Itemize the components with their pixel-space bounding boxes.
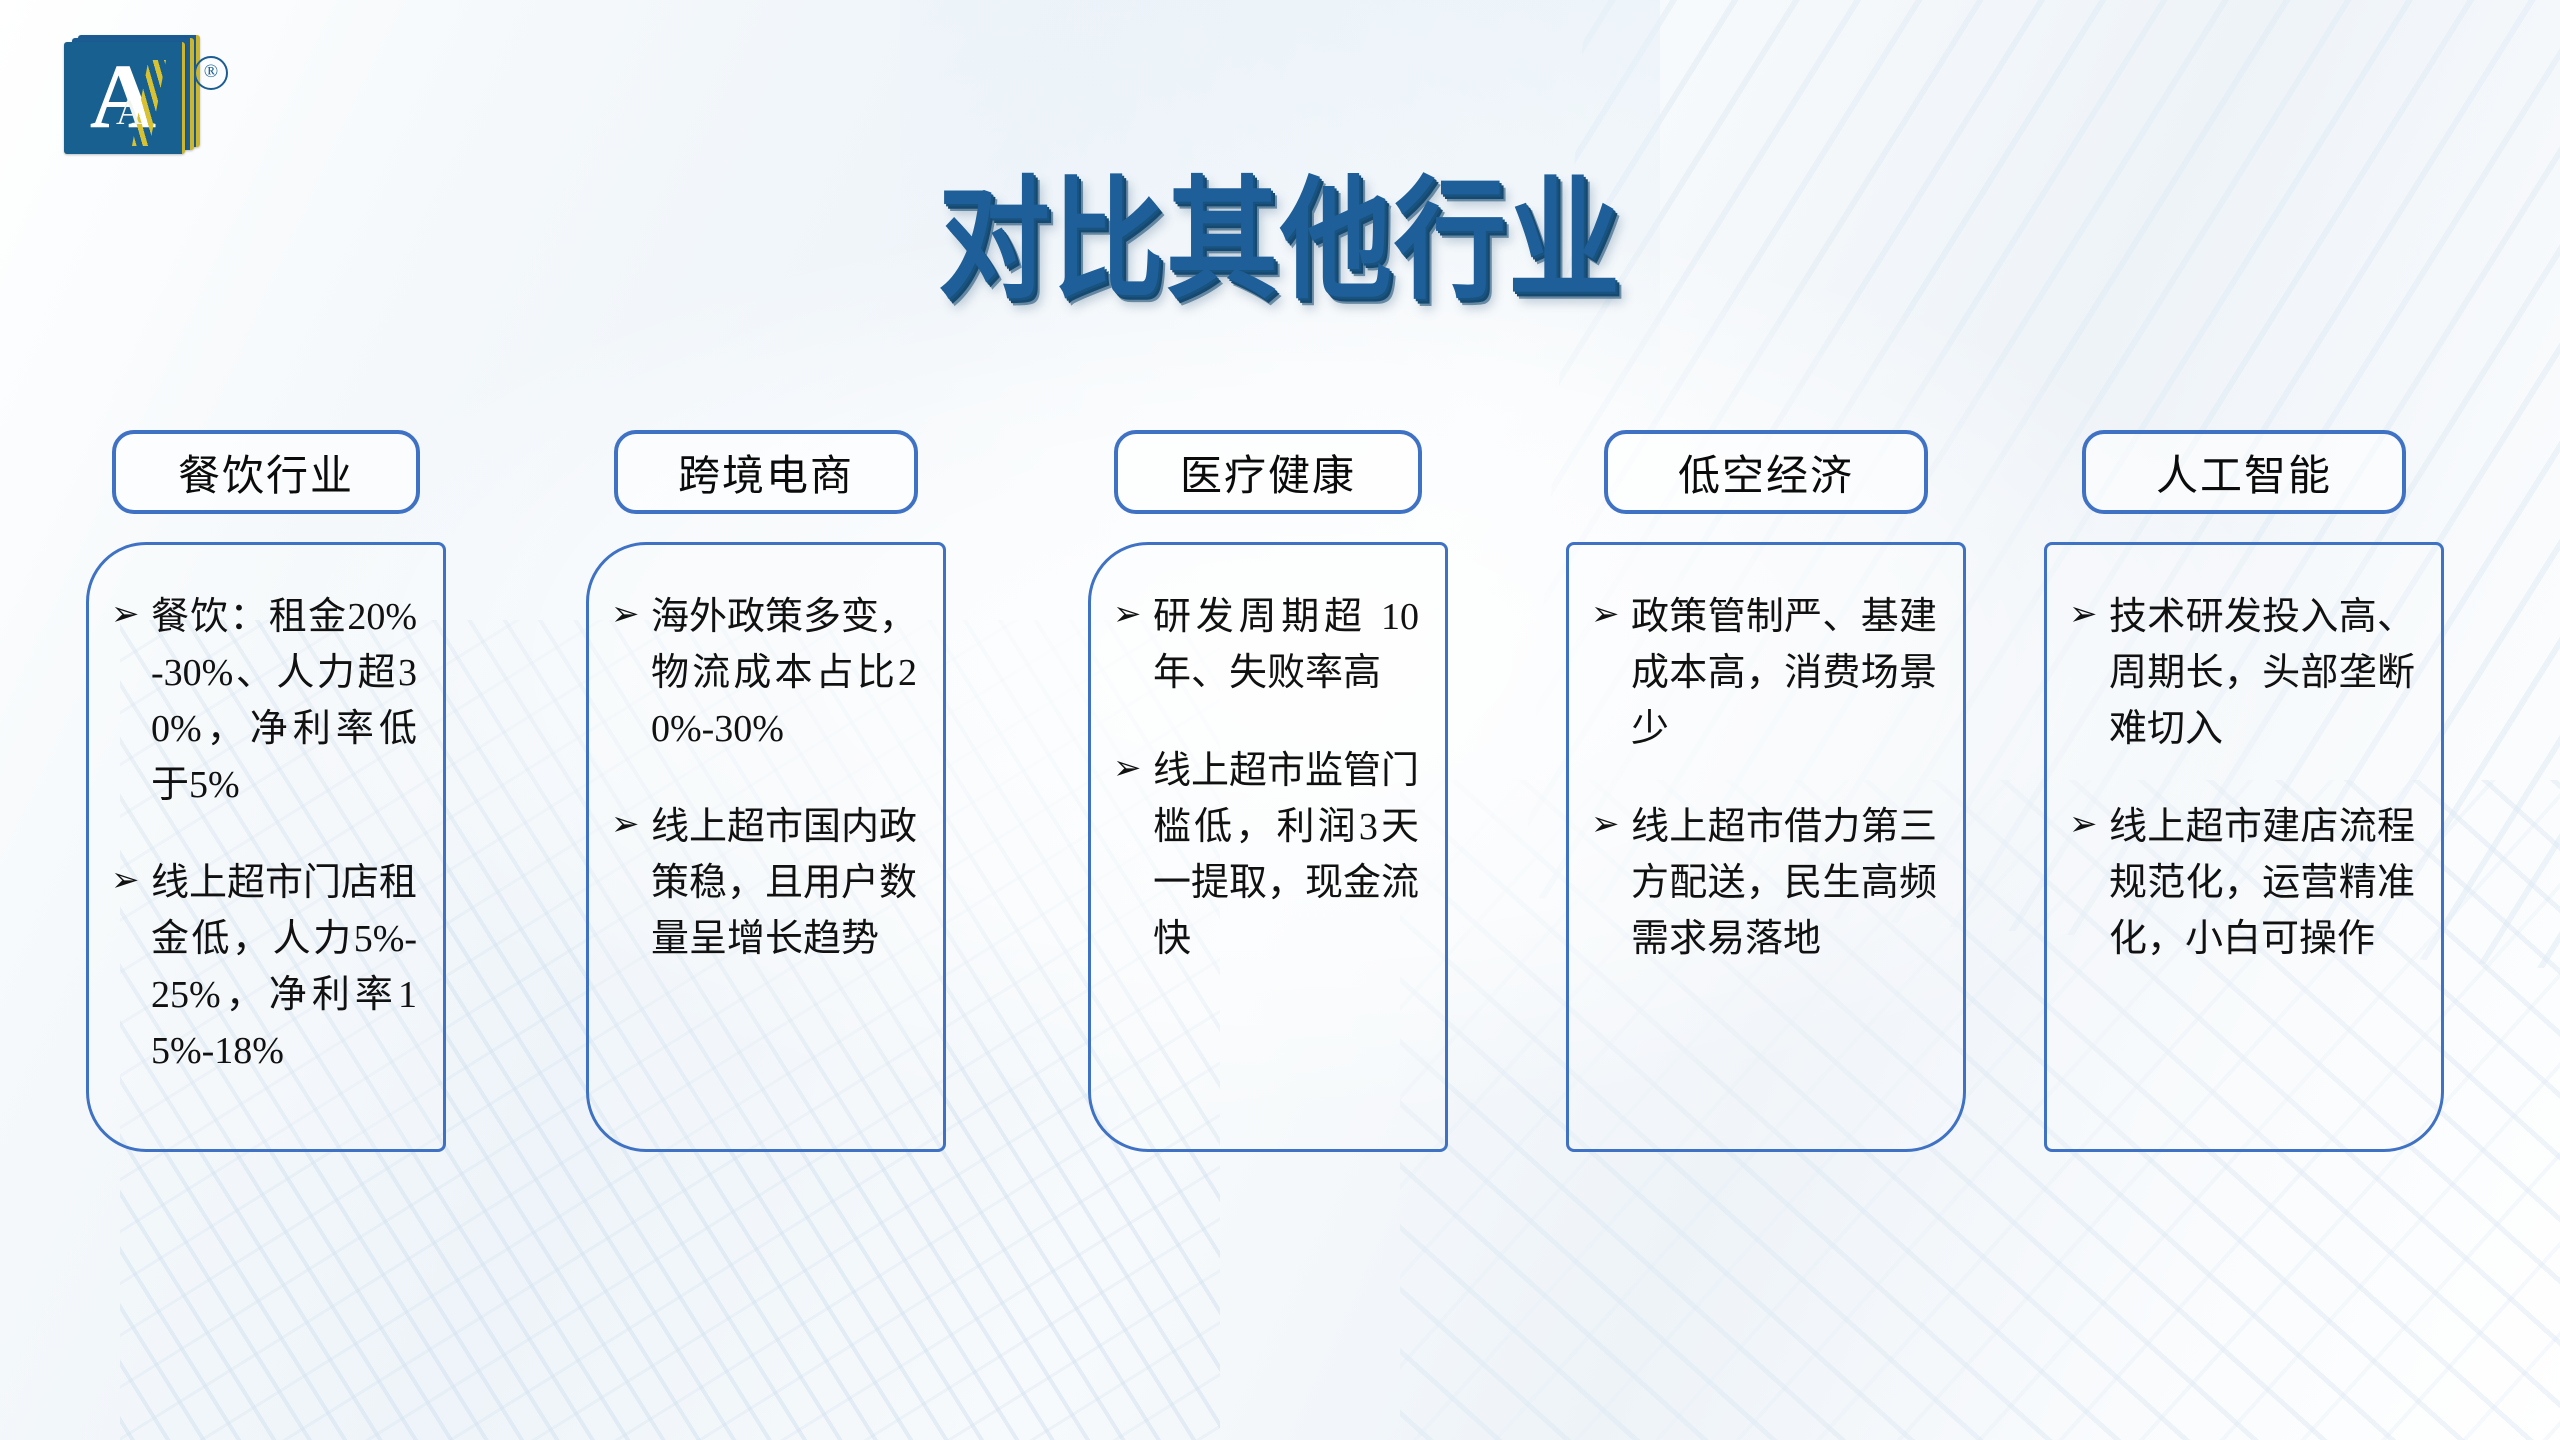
card-header-pill: 餐饮行业 <box>112 430 420 514</box>
card-header-label: 医疗健康 <box>1180 442 1356 503</box>
industry-card-row: 餐饮行业 ➢ 餐饮：租金20%-30%、人力超30%，净利率低于5% ➢ 线上超… <box>0 430 2560 1220</box>
bullet-item: ➢ 线上超市监管门槛低，利润3天一提取，现金流快 <box>1113 743 1419 967</box>
arrow-bullet-icon: ➢ <box>2069 799 2109 849</box>
card-body: ➢ 海外政策多变，物流成本占比20%-30% ➢ 线上超市国内政策稳，且用户数量… <box>586 542 946 1152</box>
card-body: ➢ 研发周期超 10年、失败率高 ➢ 线上超市监管门槛低，利润3天一提取，现金流… <box>1088 542 1448 1152</box>
card-body: ➢ 政策管制严、基建成本高，消费场景少 ➢ 线上超市借力第三方配送，民生高频需求… <box>1566 542 1966 1152</box>
arrow-bullet-icon: ➢ <box>1591 799 1631 849</box>
bullet-text: 线上超市监管门槛低，利润3天一提取，现金流快 <box>1153 743 1419 967</box>
arrow-bullet-icon: ➢ <box>2069 589 2109 639</box>
logo-sheet-front: A A <box>64 42 185 154</box>
bullet-item: ➢ 海外政策多变，物流成本占比20%-30% <box>611 589 917 757</box>
bullet-item: ➢ 线上超市建店流程规范化，运营精准化，小白可操作 <box>2069 799 2415 967</box>
card-header-label: 低空经济 <box>1678 442 1854 503</box>
bullet-text: 线上超市国内政策稳，且用户数量呈增长趋势 <box>651 799 917 967</box>
card-header-pill: 跨境电商 <box>614 430 918 514</box>
card-header-pill: 医疗健康 <box>1114 430 1422 514</box>
company-logo: A A ® <box>46 34 236 144</box>
bullet-text: 政策管制严、基建成本高，消费场景少 <box>1631 589 1937 757</box>
bullet-text: 线上超市门店租金低，人力5%-25%，净利率15%-18% <box>151 855 417 1079</box>
arrow-bullet-icon: ➢ <box>111 589 151 639</box>
bullet-text: 海外政策多变，物流成本占比20%-30% <box>651 589 917 757</box>
card-header-pill: 低空经济 <box>1604 430 1928 514</box>
registered-trademark-icon: ® <box>194 56 228 90</box>
arrow-bullet-icon: ➢ <box>1113 743 1153 793</box>
bullet-text: 线上超市建店流程规范化，运营精准化，小白可操作 <box>2109 799 2415 967</box>
card-body: ➢ 餐饮：租金20%-30%、人力超30%，净利率低于5% ➢ 线上超市门店租金… <box>86 542 446 1152</box>
bullet-item: ➢ 餐饮：租金20%-30%、人力超30%，净利率低于5% <box>111 589 417 813</box>
arrow-bullet-icon: ➢ <box>111 855 151 905</box>
card-header-label: 人工智能 <box>2156 442 2332 503</box>
industry-card: 跨境电商 ➢ 海外政策多变，物流成本占比20%-30% ➢ 线上超市国内政策稳，… <box>586 430 946 1152</box>
bullet-item: ➢ 技术研发投入高、周期长，头部垄断难切入 <box>2069 589 2415 757</box>
bullet-item: ➢ 研发周期超 10年、失败率高 <box>1113 589 1419 701</box>
industry-card: 医疗健康 ➢ 研发周期超 10年、失败率高 ➢ 线上超市监管门槛低，利润3天一提… <box>1088 430 1448 1152</box>
card-header-label: 餐饮行业 <box>178 442 354 503</box>
bullet-item: ➢ 政策管制严、基建成本高，消费场景少 <box>1591 589 1937 757</box>
bullet-text: 线上超市借力第三方配送，民生高频需求易落地 <box>1631 799 1937 967</box>
arrow-bullet-icon: ➢ <box>611 589 651 639</box>
bullet-text: 技术研发投入高、周期长，头部垄断难切入 <box>2109 589 2415 757</box>
bullet-item: ➢ 线上超市国内政策稳，且用户数量呈增长趋势 <box>611 799 917 967</box>
logo-letter-a-small: A <box>116 94 142 130</box>
bullet-item: ➢ 线上超市门店租金低，人力5%-25%，净利率15%-18% <box>111 855 417 1079</box>
arrow-bullet-icon: ➢ <box>611 799 651 849</box>
arrow-bullet-icon: ➢ <box>1113 589 1153 639</box>
bullet-item: ➢ 线上超市借力第三方配送，民生高频需求易落地 <box>1591 799 1937 967</box>
title-container: 对比其他行业 <box>0 182 2560 300</box>
bullet-text: 餐饮：租金20%-30%、人力超30%，净利率低于5% <box>151 589 417 813</box>
industry-card: 人工智能 ➢ 技术研发投入高、周期长，头部垄断难切入 ➢ 线上超市建店流程规范化… <box>2044 430 2444 1152</box>
arrow-bullet-icon: ➢ <box>1591 589 1631 639</box>
card-body: ➢ 技术研发投入高、周期长，头部垄断难切入 ➢ 线上超市建店流程规范化，运营精准… <box>2044 542 2444 1152</box>
industry-card: 低空经济 ➢ 政策管制严、基建成本高，消费场景少 ➢ 线上超市借力第三方配送，民… <box>1566 430 1966 1152</box>
slide-canvas: A A ® 对比其他行业 餐饮行业 ➢ 餐饮：租金20%-30%、人力超30%，… <box>0 0 2560 1440</box>
bullet-text: 研发周期超 10年、失败率高 <box>1153 589 1419 701</box>
page-title: 对比其他行业 <box>938 171 1622 310</box>
card-header-pill: 人工智能 <box>2082 430 2406 514</box>
industry-card: 餐饮行业 ➢ 餐饮：租金20%-30%、人力超30%，净利率低于5% ➢ 线上超… <box>86 430 446 1152</box>
card-header-label: 跨境电商 <box>678 442 854 503</box>
